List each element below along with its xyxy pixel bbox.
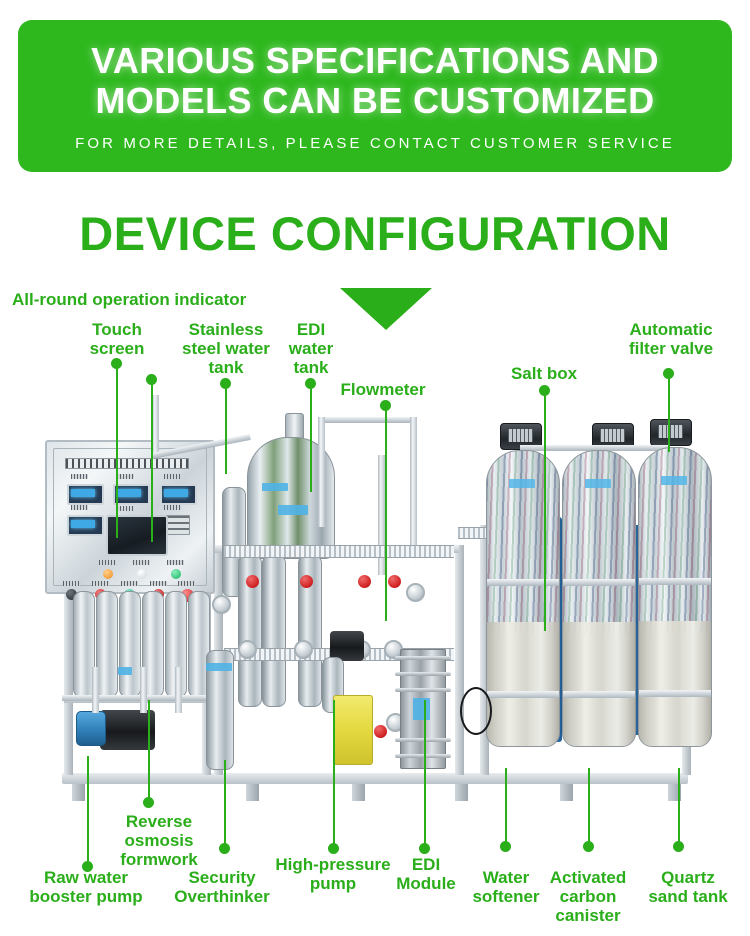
pressure-gauge <box>406 583 425 602</box>
tank-band <box>638 690 712 697</box>
indicator-lamp-orange <box>103 569 113 579</box>
callout-dot <box>583 841 594 852</box>
frame-base <box>62 773 688 784</box>
panel-tag <box>178 581 195 586</box>
section-title: DEVICE CONFIGURATION <box>0 206 750 261</box>
tank-label <box>278 505 308 515</box>
banner-headline-line2: MODELS CAN BE CUSTOMIZED <box>96 81 655 121</box>
callout-dot <box>500 841 511 852</box>
pipe-label <box>118 667 132 675</box>
digital-meter <box>67 515 104 536</box>
riser-pipe <box>152 395 159 457</box>
triangle-down-icon <box>340 288 432 330</box>
panel-tag <box>133 560 150 565</box>
tank-band <box>486 691 560 698</box>
pressure-gauge <box>294 640 313 659</box>
edi-fin <box>395 672 451 676</box>
tank-band <box>562 579 636 586</box>
automatic-filter-valve[interactable] <box>650 419 692 446</box>
tank-label <box>585 479 611 488</box>
callout-label-edi-module: EDI Module <box>396 855 456 893</box>
callout-label-touch-screen: Touch screen <box>82 320 152 358</box>
tank-media-fill <box>639 621 711 746</box>
manual-valve-handwheel[interactable] <box>300 575 313 588</box>
page-root: VARIOUS SPECIFICATIONS AND MODELS CAN BE… <box>0 0 750 936</box>
raw-water-booster-pump <box>76 711 106 746</box>
flowmeter-pipe <box>318 417 325 527</box>
frame-foot <box>560 784 573 801</box>
panel-tag <box>164 474 181 479</box>
control-cabinet[interactable] <box>45 440 215 594</box>
callout-leader <box>588 768 590 846</box>
filter-label <box>206 663 232 671</box>
frame-foot <box>72 784 85 801</box>
digital-meter <box>67 484 104 505</box>
flowmeter-pipe <box>410 417 417 557</box>
callout-dot <box>673 841 684 852</box>
callout-leader <box>544 391 546 631</box>
ro-membrane-vessel <box>119 591 141 698</box>
manual-valve-handwheel[interactable] <box>246 575 259 588</box>
pipe <box>140 667 147 713</box>
tank-media-fill <box>563 622 635 746</box>
callout-label-quartz-sand-tank: Quartz sand tank <box>634 868 742 906</box>
callout-leader <box>424 700 426 848</box>
tank-label <box>661 476 687 485</box>
cable-coil <box>460 687 492 735</box>
edi-module-label <box>413 698 430 720</box>
manual-valve-handwheel[interactable] <box>374 725 387 738</box>
callout-leader <box>505 768 507 846</box>
callout-leader <box>224 760 226 848</box>
callout-leader <box>310 384 312 492</box>
panel-tag <box>117 474 134 479</box>
frame-foot <box>246 784 259 801</box>
callout-leader <box>668 374 670 452</box>
pipe <box>92 667 99 713</box>
tank-label <box>262 483 288 491</box>
raw-water-booster-pump-motor <box>100 710 155 750</box>
callout-label-activated-carbon-canister: Activated carbon canister <box>542 868 634 925</box>
banner-headline-line1: VARIOUS SPECIFICATIONS AND <box>91 41 659 81</box>
pressure-gauge <box>212 595 231 614</box>
panel-tag <box>92 581 109 586</box>
frame-foot <box>352 784 365 801</box>
manual-valve-handwheel[interactable] <box>388 575 401 588</box>
digital-meter <box>113 484 150 505</box>
callout-leader <box>225 384 227 474</box>
callout-dot <box>328 843 339 854</box>
callout-leader <box>333 700 335 848</box>
tank-band <box>638 578 712 585</box>
callout-label-salt-box: Salt box <box>498 364 590 383</box>
side-manifold <box>458 527 486 539</box>
tank-media-fill <box>487 622 559 746</box>
chemical-dosing-tank <box>333 695 373 765</box>
panel-tag <box>164 505 181 510</box>
valve-display <box>600 429 625 442</box>
ro-membrane-vessel <box>96 591 118 698</box>
pipe <box>175 667 182 713</box>
callout-label-flowmeter: Flowmeter <box>330 380 436 399</box>
callout-dot <box>219 843 230 854</box>
water-softener-tank <box>486 450 560 747</box>
callout-label-water-softener: Water softener <box>466 868 546 906</box>
flowmeter-pipe <box>318 417 416 423</box>
callout-dot <box>143 797 154 808</box>
digital-meter <box>160 484 197 505</box>
tank-label <box>509 479 535 488</box>
callout-label-edi-water-tank: EDI water tank <box>282 320 340 377</box>
quartz-sand-tank <box>638 447 712 747</box>
callout-leader <box>385 406 387 621</box>
callout-dot <box>419 843 430 854</box>
callout-label-high-pressure-pump: High-pressure pump <box>266 855 400 893</box>
callout-leader <box>116 364 118 538</box>
panel-tag <box>63 581 80 586</box>
indicator-lamp-white <box>137 569 147 579</box>
edi-fin <box>395 738 451 742</box>
valve-manifold <box>224 545 454 558</box>
tank-band <box>486 579 560 586</box>
edi-fin <box>395 754 451 758</box>
edi-fin <box>395 656 451 660</box>
panel-tag <box>150 581 167 586</box>
callout-leader <box>151 380 153 542</box>
callout-leader <box>148 700 150 802</box>
callout-label-all-round-operation-indicator: All-round operation indicator <box>12 290 302 309</box>
panel-tag <box>117 506 134 511</box>
frame-foot <box>455 784 468 801</box>
edi-water-tank <box>262 555 286 707</box>
panel-tag <box>99 560 116 565</box>
frame-post <box>64 585 73 775</box>
panel-tag <box>121 581 138 586</box>
all-round-operation-indicator <box>65 458 189 469</box>
callout-label-security-overthinker: Security Overthinker <box>166 868 278 906</box>
valve-display <box>508 429 533 442</box>
pressure-gauge <box>238 640 257 659</box>
callout-label-reverse-osmosis-formwork: Reverse osmosis formwork <box>104 812 214 869</box>
indicator-lamp-green <box>171 569 181 579</box>
callout-leader <box>87 756 89 866</box>
frame-post <box>455 545 464 775</box>
callout-label-automatic-filter-valve: Automatic filter valve <box>604 320 738 358</box>
activated-carbon-canister <box>562 450 636 747</box>
pipe <box>62 695 212 701</box>
edi-fin <box>395 688 451 692</box>
edi-module <box>400 649 446 769</box>
callout-leader <box>678 768 680 846</box>
panel-tag <box>71 505 88 510</box>
manual-valve-handwheel[interactable] <box>358 575 371 588</box>
panel-tag <box>167 560 184 565</box>
product-image <box>0 395 750 830</box>
promo-banner: VARIOUS SPECIFICATIONS AND MODELS CAN BE… <box>18 20 732 172</box>
valve-display <box>658 425 683 438</box>
banner-subtitle: FOR MORE DETAILS, PLEASE CONTACT CUSTOME… <box>75 135 675 152</box>
callout-label-raw-water-booster-pump: Raw water booster pump <box>16 868 156 906</box>
panel-tag <box>71 474 88 479</box>
callout-label-stainless-steel-water-tank: Stainless steel water tank <box>168 320 284 377</box>
tank-band <box>562 691 636 698</box>
